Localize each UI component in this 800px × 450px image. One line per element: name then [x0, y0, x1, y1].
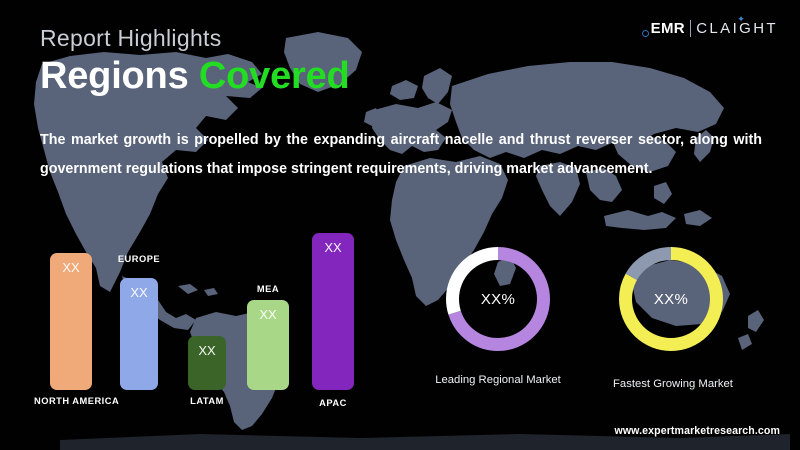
bar-value-label: XX	[312, 240, 354, 255]
logo-divider	[690, 20, 691, 37]
bar-category-label: APAC	[306, 398, 360, 408]
bar-category-label: LATAM	[177, 396, 237, 406]
page-title: Regions Covered	[40, 57, 350, 97]
bar-value-label: XX	[50, 260, 92, 275]
bar-value-label: XX	[188, 343, 226, 358]
logo-sparkle-icon: ✦	[737, 15, 747, 24]
emr-claight-logo: EMR CLAIGHT ✦	[642, 17, 778, 39]
report-highlights-slide: EMR CLAIGHT ✦ Report Highlights Regions …	[0, 0, 800, 450]
bar-category-label: NORTH AMERICA	[34, 396, 108, 406]
bar-value-label: XX	[247, 307, 289, 322]
donut-center-value: XX%	[446, 247, 550, 351]
donut-caption: Leading Regional Market	[413, 374, 583, 386]
donut-center-value: XX%	[619, 247, 723, 351]
logo-claight-text: CLAIGHT ✦	[696, 20, 778, 37]
page-title-main: Regions	[40, 55, 189, 97]
bar-europe: XX	[120, 278, 158, 390]
bar-category-label: MEA	[243, 284, 293, 294]
donut-chart-1: XX%	[446, 247, 550, 351]
bar-north-america: XX	[50, 253, 92, 390]
donut-chart-2: XX%	[619, 247, 723, 351]
header-block: Report Highlights Regions Covered	[40, 26, 350, 97]
logo-emr-text: EMR	[651, 20, 685, 37]
bar-mea: XX	[247, 300, 289, 390]
footer-website-url: www.expertmarketresearch.com	[614, 425, 780, 437]
eyebrow-text: Report Highlights	[40, 26, 350, 51]
bar-category-label: EUROPE	[101, 254, 177, 264]
subtitle-text: The market growth is propelled by the ex…	[40, 126, 762, 183]
bar-apac: XX	[312, 233, 354, 390]
bar-latam: XX	[188, 336, 226, 390]
page-title-accent: Covered	[199, 55, 350, 97]
logo-dot-icon	[642, 30, 649, 37]
bar-value-label: XX	[120, 285, 158, 300]
donut-caption: Fastest Growing Market	[588, 378, 758, 390]
